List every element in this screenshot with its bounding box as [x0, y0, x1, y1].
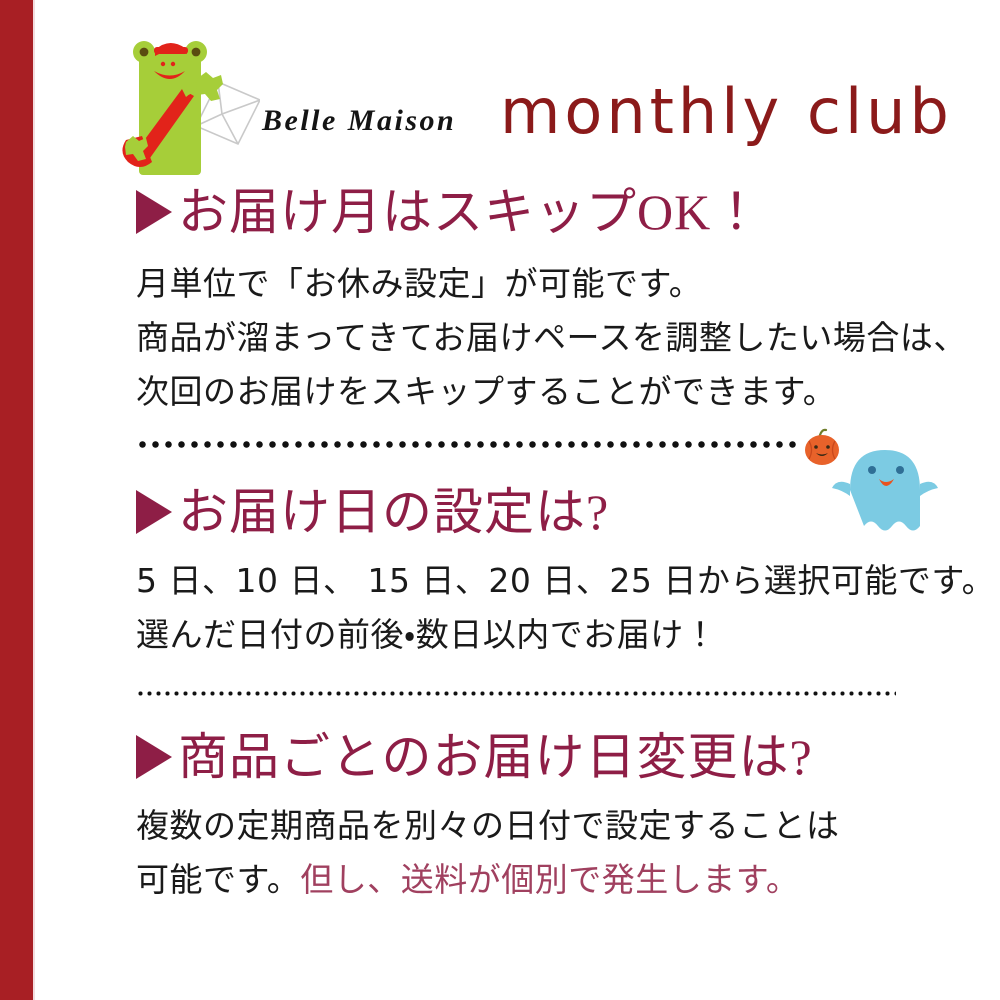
triangle-marker-icon — [136, 190, 172, 234]
body-line-plain: 可能です。 — [136, 860, 300, 899]
triangle-marker-icon — [136, 490, 172, 534]
body-line: 複数の定期商品を別々の日付で設定することは — [136, 799, 1000, 853]
triangle-marker-icon — [136, 735, 172, 779]
body-line-accent: 但し、送料が個別で発生します。 — [300, 860, 799, 899]
dotted-divider-fine — [136, 691, 896, 701]
body-line: 次回のお届けをスキップすることができます。 — [136, 365, 1000, 419]
left-stripe-hairline — [33, 0, 35, 1000]
divider-dots — [136, 691, 896, 696]
section-heading-per-item-change: 商品ごとのお届け日変更は? — [136, 731, 1000, 784]
banner-header: Belle Maison monthly club — [110, 28, 940, 178]
section-heading-skip: お届け月はスキップOK！ — [136, 186, 1000, 239]
left-red-stripe — [0, 0, 33, 1000]
body-line: 月単位で「お休み設定」が可能です。 — [136, 257, 1000, 311]
body-line: 5 日、10 日、 15 日、20 日、25 日から選択可能です。 — [136, 554, 1000, 608]
pumpkin-icon — [805, 430, 839, 465]
club-title: monthly club — [500, 81, 953, 143]
body-line: 選んだ日付の前後・数日以内でお届け！ — [136, 608, 1000, 662]
section-body-delivery-date: 5 日、10 日、 15 日、20 日、25 日から選択可能です。 選んだ日付の… — [136, 554, 1000, 662]
body-line-with-accent: 可能です。但し、送料が個別で発生します。 — [136, 853, 1000, 907]
section-heading-label: お届け日の設定は? — [178, 486, 609, 539]
section-body-skip: 月単位で「お休み設定」が可能です。 商品が溜まってきてお届けペースを調整したい場… — [136, 257, 1000, 419]
section-heading-label: 商品ごとのお届け日変更は? — [178, 731, 813, 784]
divider-dots — [136, 441, 802, 448]
section-body-per-item-change: 複数の定期商品を別々の日付で設定することは 可能です。但し、送料が個別で発生しま… — [136, 799, 1000, 907]
section-heading-label: お届け月はスキップOK！ — [178, 186, 762, 239]
brand-name: Belle Maison — [262, 104, 456, 138]
halloween-illustration — [800, 428, 960, 548]
ghost-icon — [832, 450, 938, 531]
frog-mascot-icon — [110, 34, 260, 179]
dotted-divider — [136, 441, 802, 451]
body-line: 商品が溜まってきてお届けペースを調整したい場合は、 — [136, 311, 1000, 365]
promo-banner: Belle Maison monthly club お届け月はスキップOK！ 月… — [0, 0, 1000, 1000]
